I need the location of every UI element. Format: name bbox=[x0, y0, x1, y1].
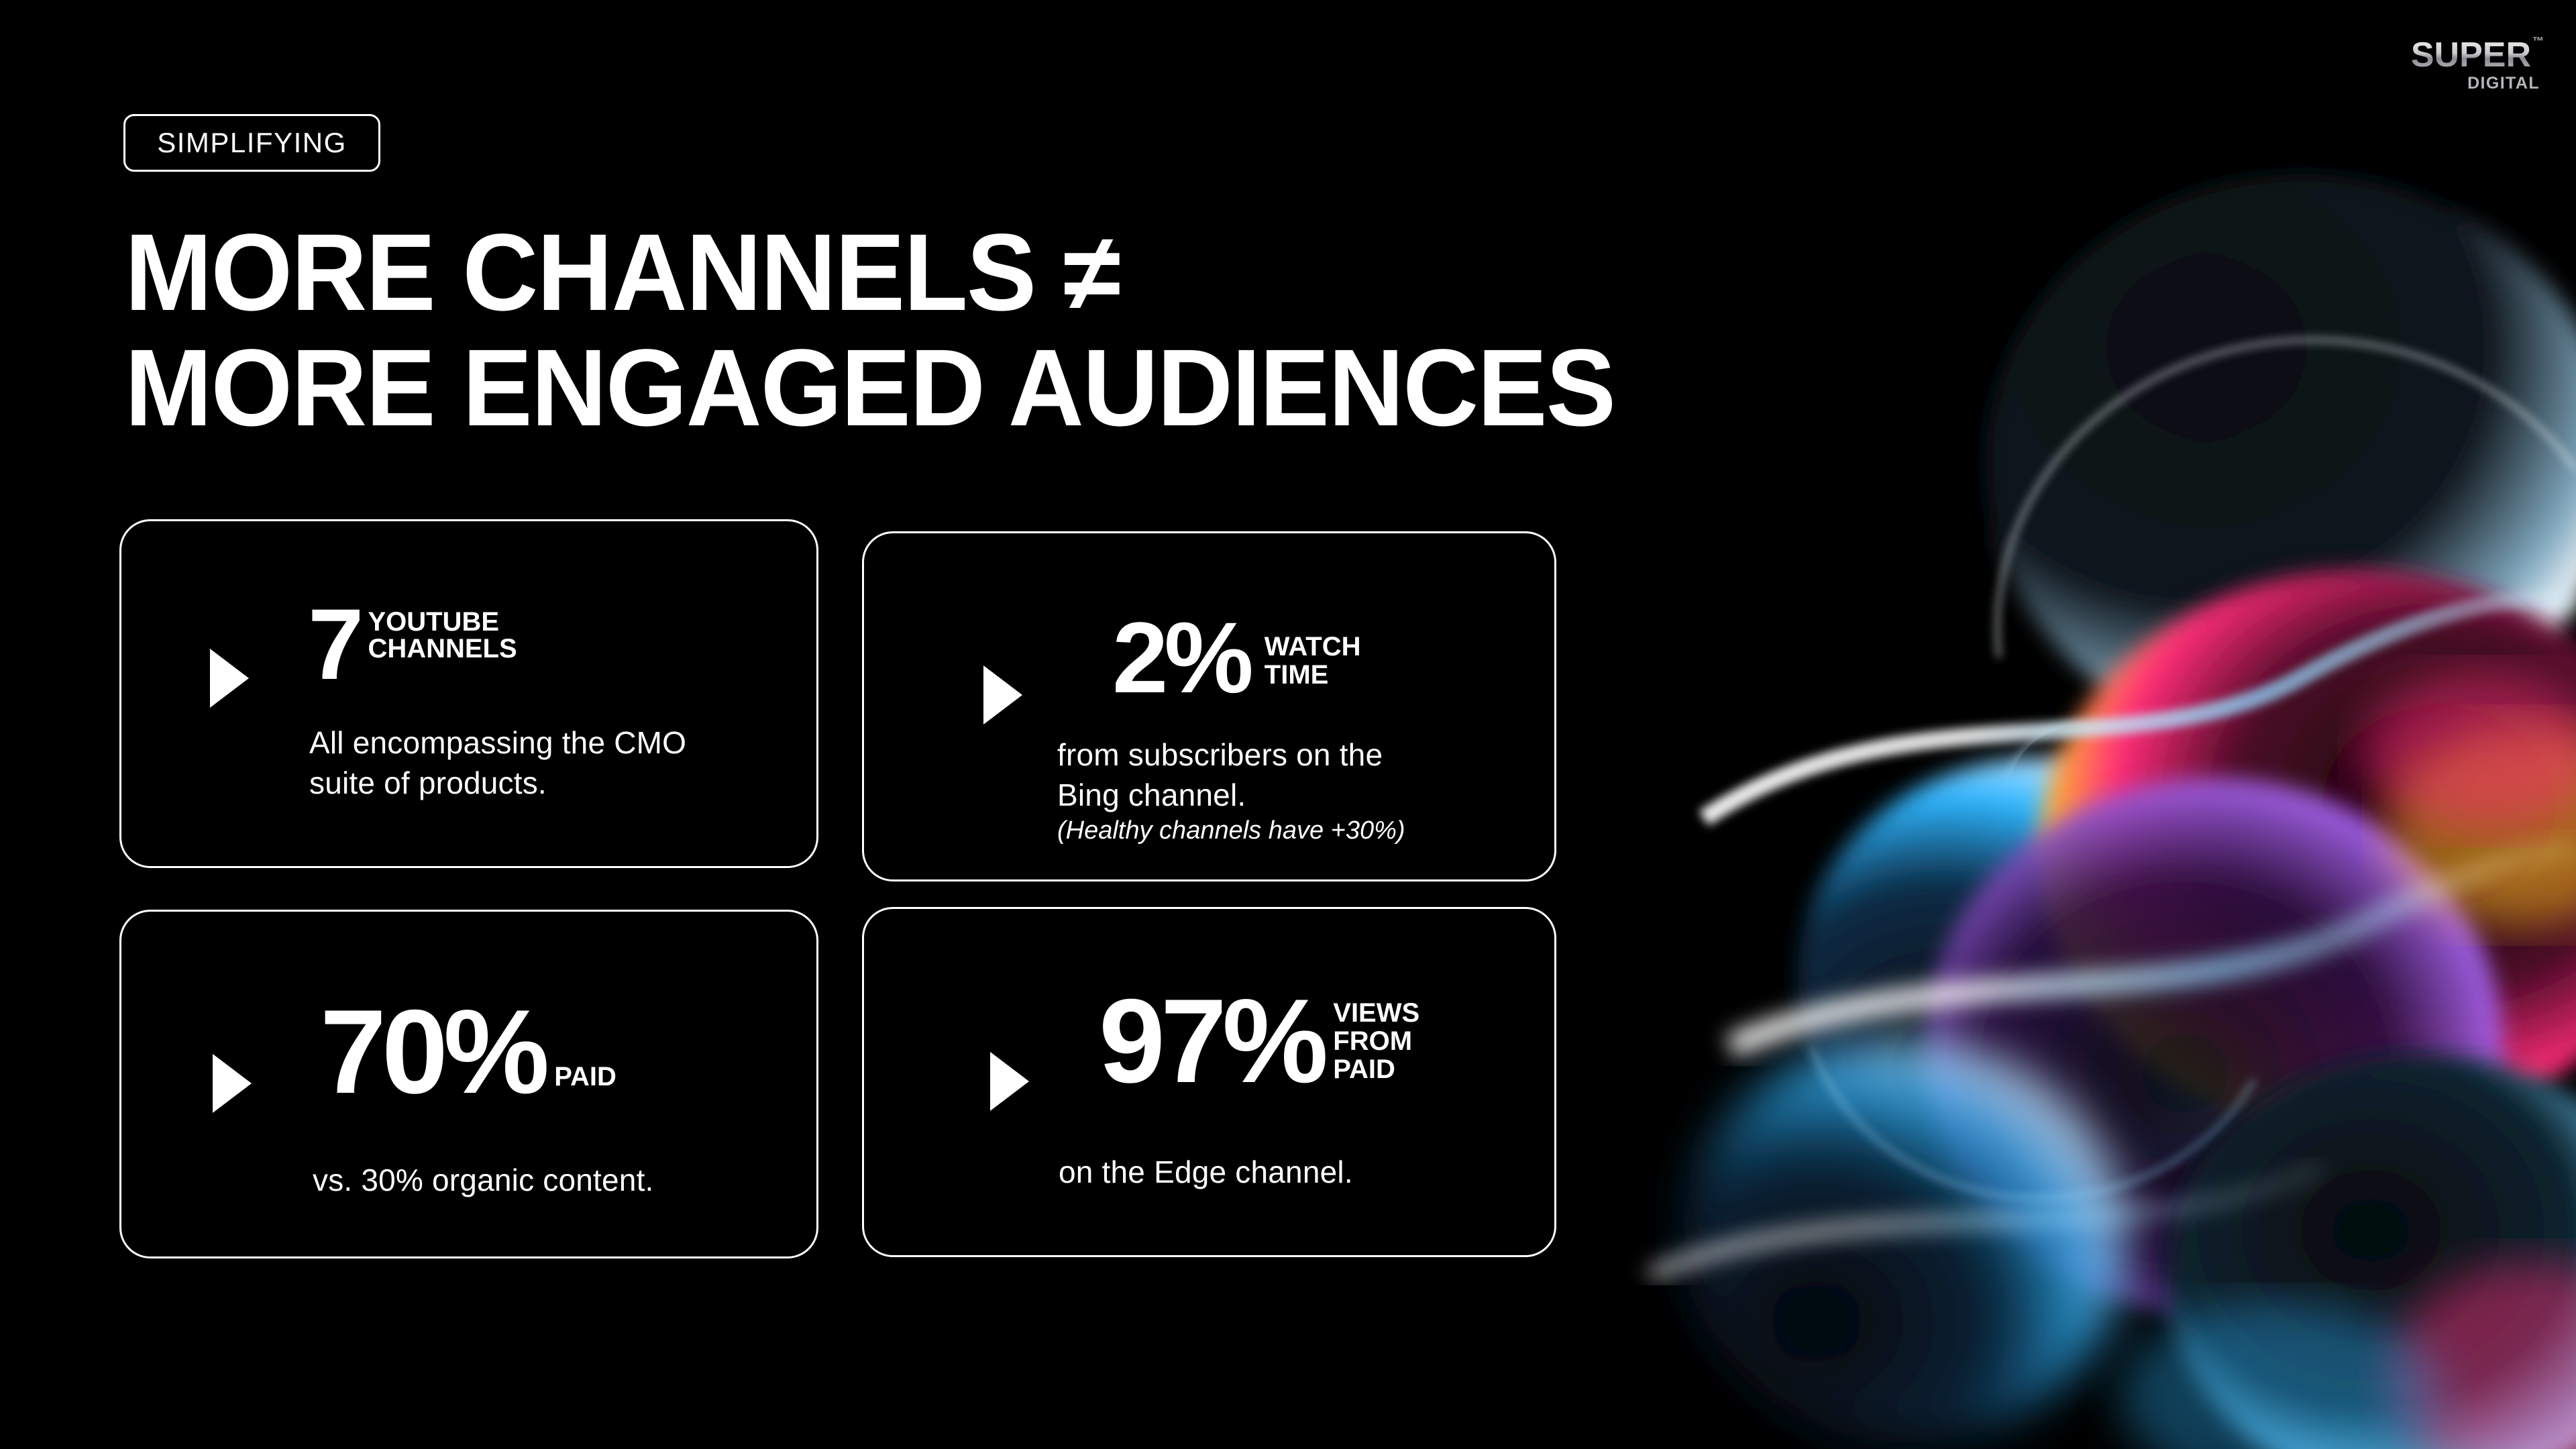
page-title: MORE CHANNELS ≠ MORE ENGAGED AUDIENCES bbox=[125, 215, 1735, 445]
logo-wordmark: SUPER bbox=[2411, 38, 2531, 72]
logo-subtitle: DIGITAL bbox=[2411, 75, 2540, 92]
trademark-symbol: ™ bbox=[2532, 35, 2544, 48]
stat-description: All encompassing the CMO suite of produc… bbox=[309, 722, 779, 803]
play-triangle-icon bbox=[983, 665, 1022, 724]
stat-label: PAID bbox=[545, 992, 616, 1090]
page-title-line-2: MORE ENGAGED AUDIENCES bbox=[125, 330, 1670, 445]
stat-headline-row: 7 YOUTUBE CHANNELS bbox=[308, 594, 517, 694]
play-triangle-icon bbox=[210, 649, 249, 708]
stat-description: on the Edge channel. bbox=[1059, 1152, 1555, 1192]
stat-headline-row: 70% PAID bbox=[320, 992, 616, 1112]
brand-logo: SUPER™ DIGITAL bbox=[2411, 38, 2542, 92]
stat-headline-row: 2% WATCH TIME bbox=[1112, 607, 1360, 708]
section-badge-label: SIMPLIFYING bbox=[157, 129, 347, 157]
stat-number: 2% bbox=[1112, 607, 1250, 708]
stat-card-views-from-paid[interactable]: 97% VIEWS FROM PAID on the Edge channel. bbox=[862, 907, 1556, 1257]
stat-card-youtube-channels[interactable]: 7 YOUTUBE CHANNELS All encompassing the … bbox=[119, 519, 818, 868]
stat-card-paid-share[interactable]: 70% PAID vs. 30% organic content. bbox=[119, 910, 818, 1258]
stat-headline-row: 97% VIEWS FROM PAID bbox=[1099, 981, 1419, 1101]
play-triangle-icon bbox=[213, 1054, 252, 1113]
stat-description: vs. 30% organic content. bbox=[313, 1160, 809, 1200]
stat-footnote: (Healthy channels have +30%) bbox=[1057, 815, 1405, 846]
stat-description: from subscribers on the Bing channel. bbox=[1057, 735, 1527, 815]
stat-number: 7 bbox=[308, 594, 361, 694]
stat-number: 70% bbox=[320, 992, 545, 1112]
stat-label: VIEWS FROM PAID bbox=[1324, 981, 1419, 1083]
page-title-line-1: MORE CHANNELS ≠ bbox=[125, 215, 1670, 330]
stat-number: 97% bbox=[1099, 981, 1324, 1101]
section-badge: SIMPLIFYING bbox=[123, 114, 380, 172]
play-triangle-icon bbox=[990, 1052, 1029, 1111]
stat-label: YOUTUBE CHANNELS bbox=[361, 594, 517, 662]
stat-label: WATCH TIME bbox=[1250, 607, 1361, 689]
stat-card-watch-time[interactable]: 2% WATCH TIME from subscribers on the Bi… bbox=[862, 531, 1556, 881]
